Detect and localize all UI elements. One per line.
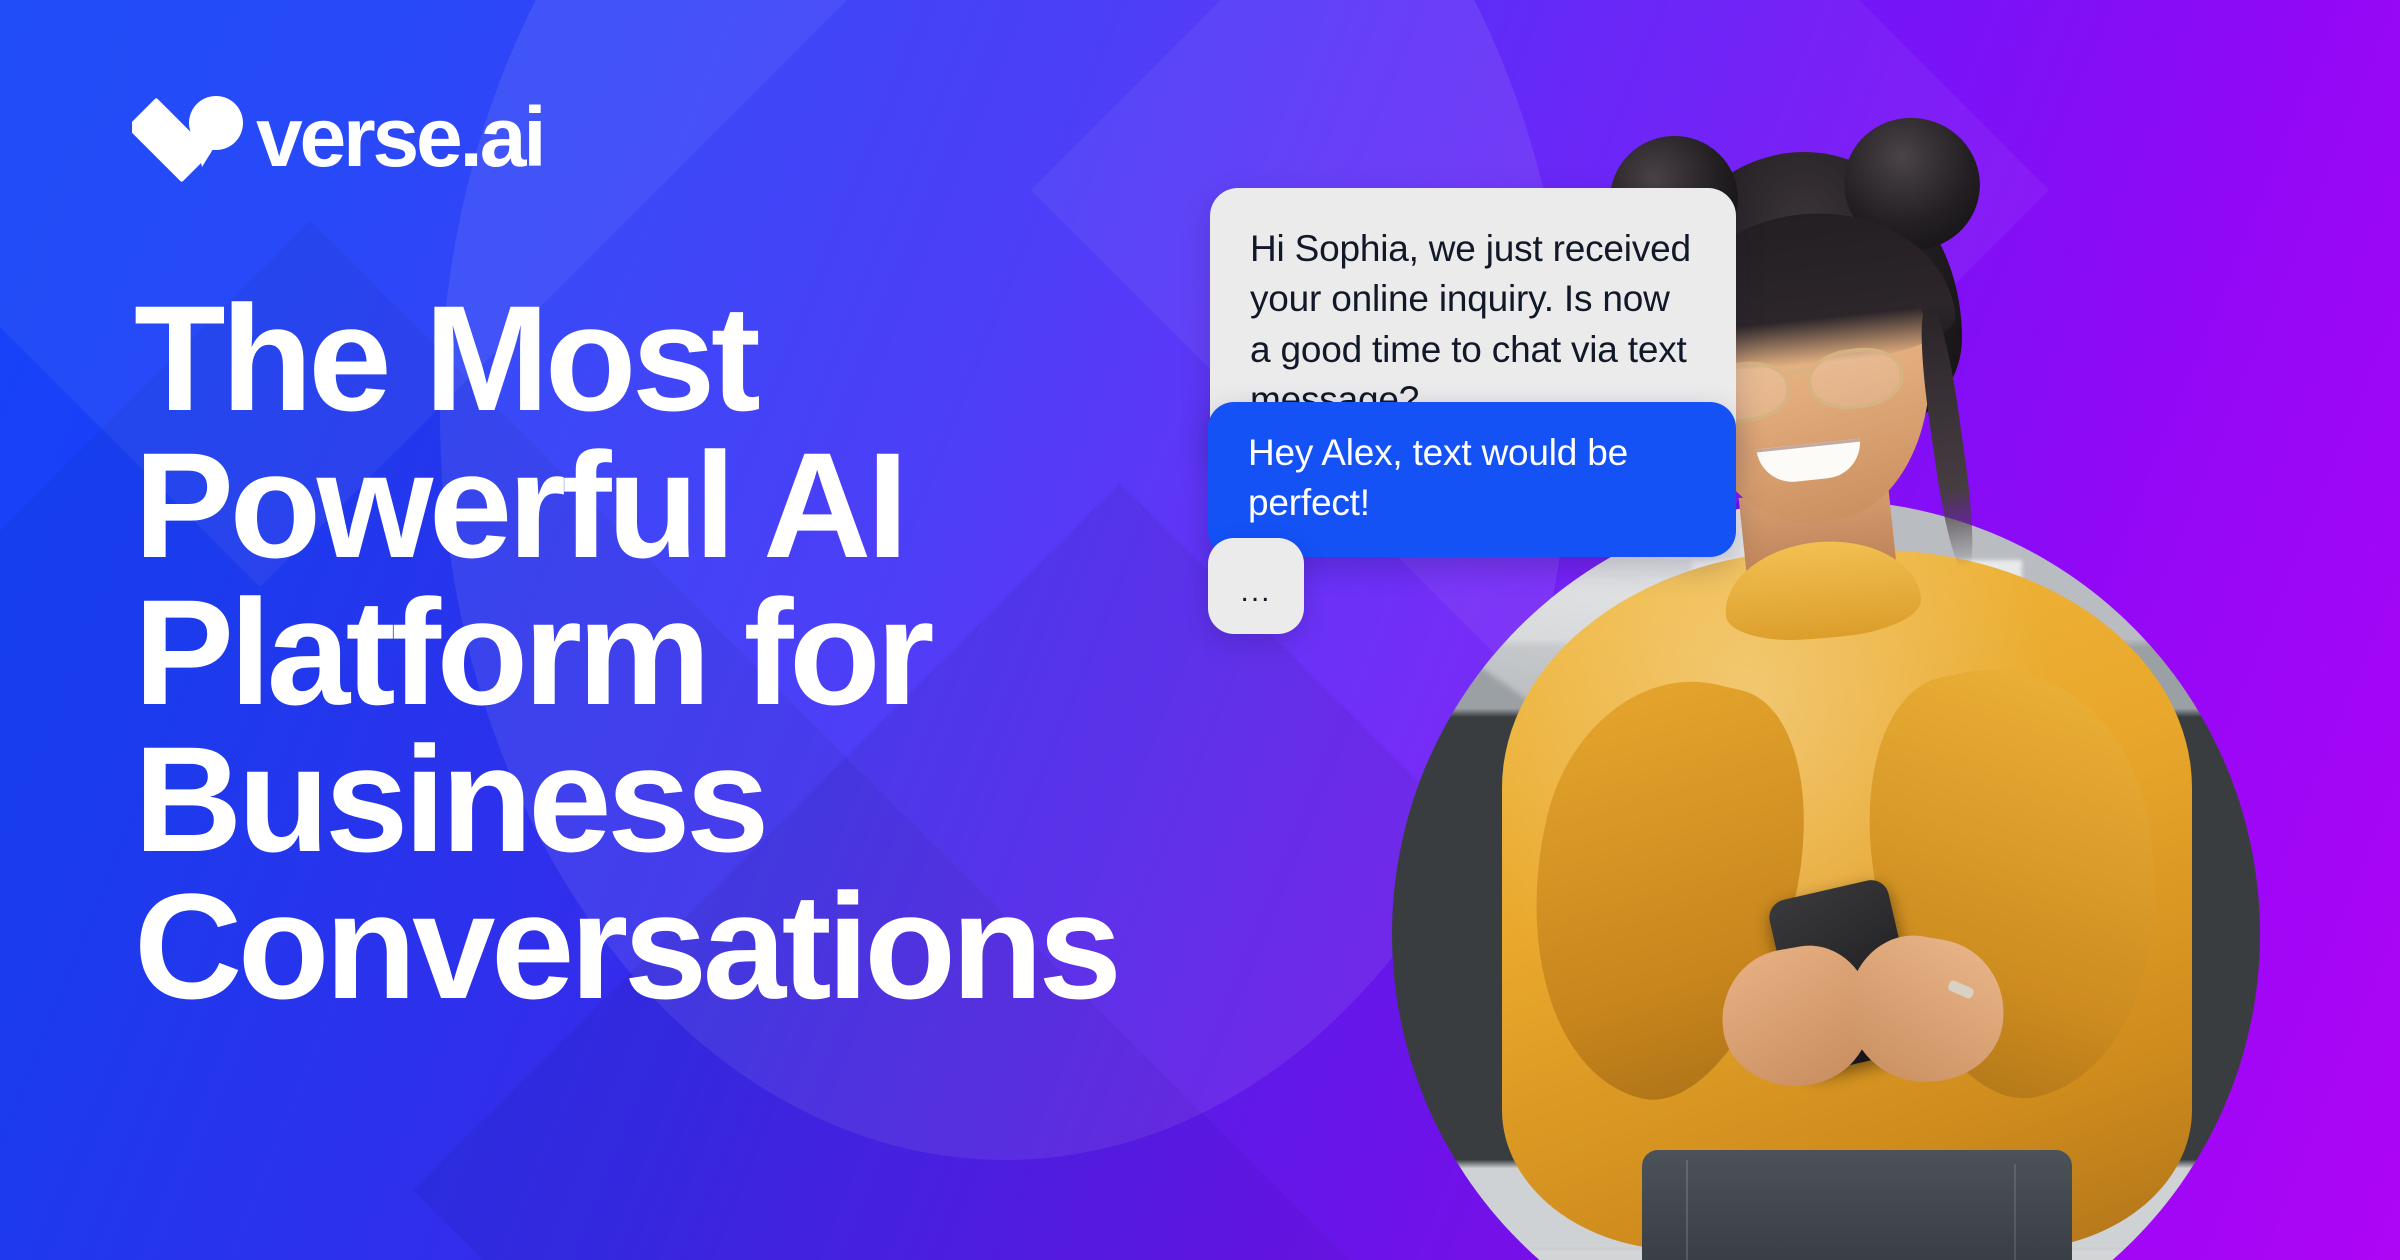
verse-logo-mark-icon <box>132 89 244 185</box>
headline-line-3: Platform for <box>134 579 1194 726</box>
chat-bubble-outgoing-text: Hey Alex, text would be perfect! <box>1248 432 1628 523</box>
headline-line-2: Powerful AI <box>134 432 1194 579</box>
typing-indicator-dots: ... <box>1208 577 1304 607</box>
eyeglasses-bridge <box>1788 368 1810 375</box>
chat-bubble-typing: ... <box>1208 538 1304 634</box>
headline-line-1: The Most <box>134 285 1194 432</box>
hero-banner: verse.ai The Most Powerful AI Platform f… <box>0 0 2400 1260</box>
chat-bubble-incoming-text: Hi Sophia, we just received your online … <box>1250 228 1691 420</box>
headline-line-5: Conversations <box>134 873 1194 1020</box>
brand-wordmark: verse.ai <box>256 95 543 179</box>
eyeglasses-lens-right <box>1804 343 1907 414</box>
headline-line-4: Business <box>134 726 1194 873</box>
chat-bubble-outgoing: Hey Alex, text would be perfect! <box>1208 402 1736 557</box>
hero-photo <box>1392 500 2260 1260</box>
page-title: The Most Powerful AI Platform for Busine… <box>134 285 1194 1020</box>
brand-logo[interactable]: verse.ai <box>132 92 543 182</box>
